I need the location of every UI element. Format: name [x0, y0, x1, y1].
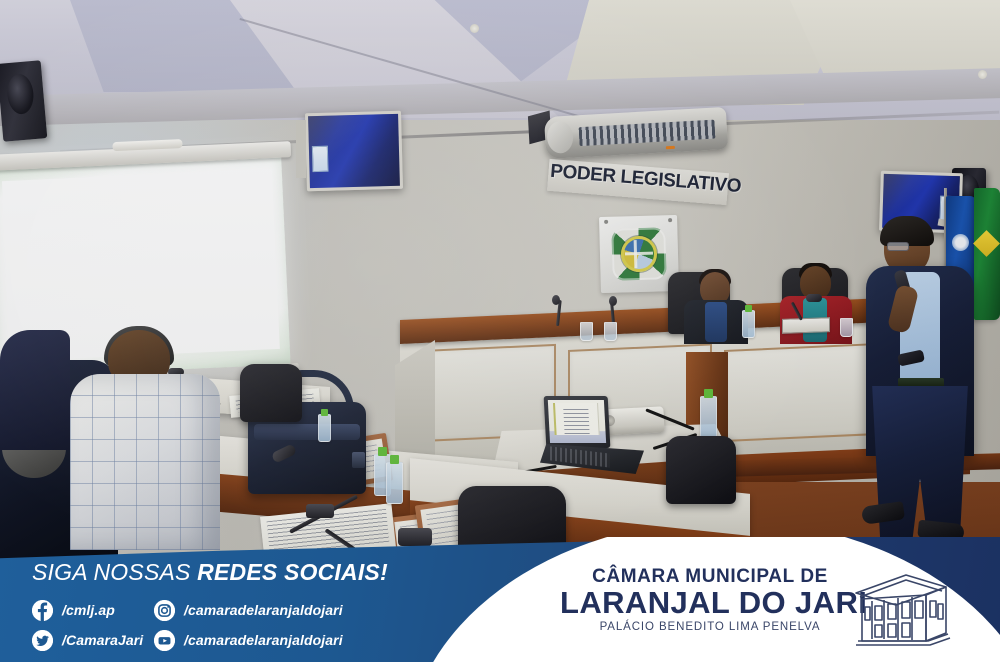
brazil-flag [974, 188, 1000, 320]
bag-emblem [352, 452, 365, 468]
logo-line-3: PALÁCIO BENEDITO LIMA PENELVA [560, 621, 860, 633]
social-links-grid: /cmlj.ap /camaradelaranjaldojari [32, 595, 343, 655]
logo-line-1: CÂMARA MUNICIPAL DE [560, 567, 860, 587]
ac-indicator-light [666, 146, 675, 149]
desk-nameplate [782, 317, 830, 334]
presentation-laptop [544, 396, 611, 448]
building-icon [848, 571, 954, 647]
attendee-plaid-shirt [62, 330, 222, 550]
dais-panel [724, 343, 868, 442]
speaker-glasses [887, 242, 909, 251]
facebook-icon [32, 600, 53, 621]
water-bottle [318, 414, 331, 442]
ceiling-light [470, 24, 479, 33]
water-glass [580, 322, 593, 341]
twitter-handle: /CamaraJari [62, 632, 143, 648]
office-chair [666, 436, 736, 504]
twitter-icon [32, 630, 53, 651]
crest-shield [611, 227, 666, 280]
youtube-handle: /camaradelaranjaldojari [184, 632, 343, 648]
instagram-handle: /camaradelaranjaldojari [184, 602, 343, 618]
institution-logo-text: CÂMARA MUNICIPAL DE LARANJAL DO JARI PAL… [560, 567, 860, 633]
crest-emblem [621, 236, 658, 273]
laptop-document [553, 403, 600, 435]
screenshot-root: PODER LEGISLATIVO [0, 0, 1000, 662]
water-bottle [700, 396, 717, 438]
tv-mount-left [296, 120, 306, 178]
bag-flap [254, 424, 360, 440]
social-link-facebook[interactable]: /cmlj.ap [32, 600, 144, 621]
ceiling-speaker-left [0, 60, 47, 142]
microphone-base [306, 504, 334, 518]
seated-member-shirt [705, 302, 727, 342]
logo-line-2: LARANJAL DO JARI [560, 587, 860, 619]
social-link-instagram[interactable]: /camaradelaranjaldojari [154, 600, 343, 621]
social-link-twitter[interactable]: /CamaraJari [32, 630, 144, 651]
institutional-footer-banner: SIGA NOSSAS REDES SOCIAIS! /cmlj.ap [0, 537, 1000, 662]
microphone-head [609, 296, 617, 306]
attendee-shoulder [0, 330, 70, 450]
office-chair [240, 364, 302, 422]
wall-tv-left [305, 111, 403, 191]
microphone-head [552, 295, 560, 305]
social-link-youtube[interactable]: /camaradelaranjaldojari [154, 630, 343, 651]
water-bottle [386, 462, 403, 504]
water-bottle [742, 310, 755, 338]
document-text-lines [563, 409, 589, 435]
laptop-screen [548, 400, 606, 443]
facebook-handle: /cmlj.ap [62, 602, 115, 618]
social-heading-bold: REDES SOCIAIS! [197, 559, 388, 585]
tv-sticker [312, 146, 329, 172]
microphone-head [806, 294, 822, 302]
water-glass [840, 318, 853, 337]
ceiling-light [978, 70, 987, 79]
instagram-icon [154, 600, 175, 621]
youtube-icon [154, 630, 175, 651]
water-glass [604, 322, 617, 341]
social-heading: SIGA NOSSAS REDES SOCIAIS! [32, 559, 388, 586]
social-heading-light: SIGA NOSSAS [32, 559, 197, 585]
person-shirt [70, 374, 220, 550]
municipal-coat-of-arms-banner [599, 215, 679, 293]
